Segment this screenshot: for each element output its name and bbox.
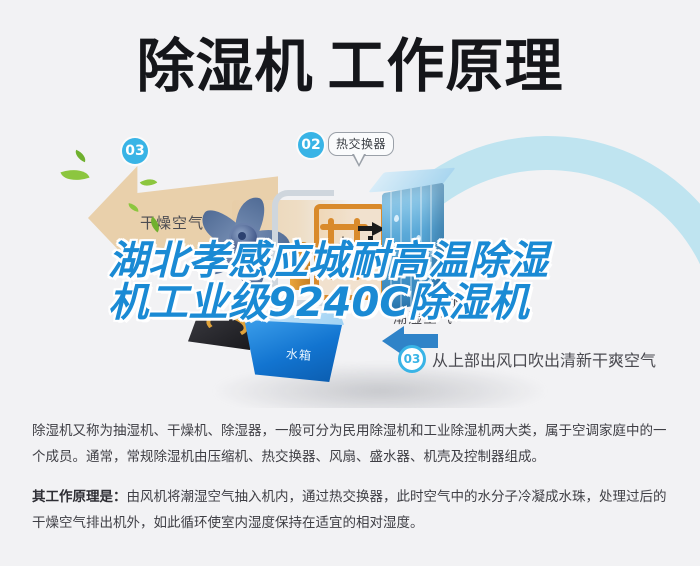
flow-arrow-right-stem — [358, 226, 374, 231]
fin — [400, 190, 402, 308]
caption-step-03: 03 从上部出风口吹出清新干爽空气 — [398, 345, 656, 373]
label-dry-air: 干燥空气 — [140, 212, 204, 233]
page-title: 除湿机工作原理 — [0, 24, 700, 108]
step-number-03: 03 — [122, 138, 148, 164]
caption-step-03-number: 03 — [398, 345, 426, 373]
fin — [420, 186, 422, 304]
body-paragraph-1: 除湿机又称为抽湿机、干燥机、除湿器，一般可分为民用除湿机和工业除湿机两大类，属于… — [32, 418, 668, 470]
body-paragraph-2-lead: 其工作原理是： — [32, 489, 127, 505]
leaf-icon — [73, 150, 88, 163]
step-number-02: 02 — [298, 132, 324, 158]
page-title-part1: 除湿机 — [136, 32, 313, 100]
water-droplet-icon — [404, 263, 409, 271]
fan-hub — [229, 223, 259, 253]
fin — [410, 188, 412, 306]
body-copy: 除湿机又称为抽湿机、干燥机、除湿器，一般可分为民用除湿机和工业除湿机两大类，属于… — [32, 418, 668, 550]
flow-arrow-up-stem — [340, 247, 345, 263]
compressor-cylinder — [290, 242, 310, 290]
fin — [390, 192, 392, 310]
label-water-tank: 水箱 — [285, 345, 312, 364]
body-paragraph-2-rest: 由风机将潮湿空气抽入机内，通过热交换器，此时空气中的水分子冷凝成水珠，处理过后的… — [32, 489, 667, 531]
leaf-icon — [140, 175, 157, 190]
leaf-icon — [60, 164, 89, 185]
callout-heat-exchanger: 热交换器 — [328, 132, 394, 156]
page-title-text: 除湿机工作原理 — [136, 37, 563, 95]
water-droplet-icon — [394, 214, 399, 222]
caption-step-02: 成水珠 — [432, 290, 477, 311]
caption-step-02-text: 成水珠 — [432, 290, 477, 311]
flow-arrow-down-stem — [368, 236, 373, 252]
page-title-part2: 工作原理 — [328, 32, 564, 100]
callout-tail-icon — [352, 154, 366, 167]
caption-step-03-text: 从上部出风口吹出清新干爽空气 — [432, 347, 656, 371]
body-paragraph-2: 其工作原理是：由风机将潮湿空气抽入机内，通过热交换器，此时空气中的水分子冷凝成水… — [32, 484, 668, 536]
page-root: 除湿机工作原理 01 潮湿空气 03 干燥空气 — [0, 0, 700, 566]
